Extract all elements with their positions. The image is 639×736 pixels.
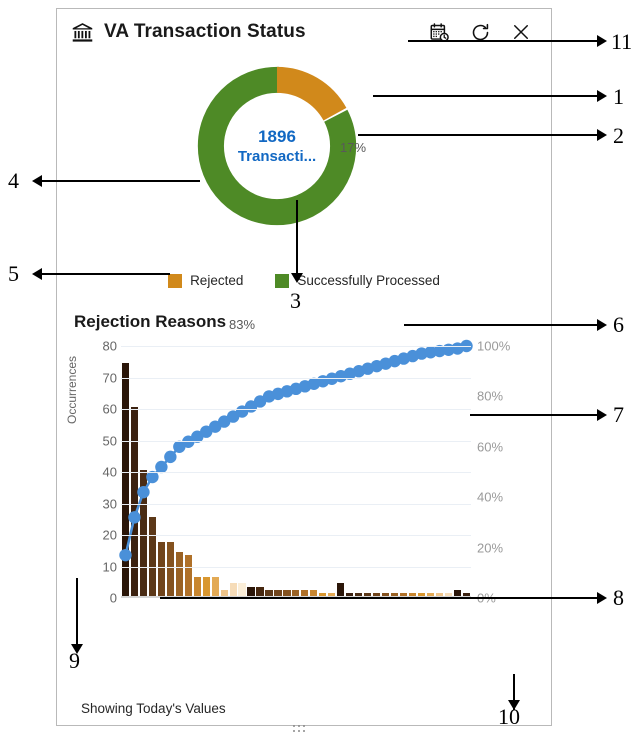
- annotation-number-8: 8: [613, 587, 624, 609]
- y-tick: 50: [103, 433, 117, 448]
- annotation-number-2: 2: [613, 125, 624, 147]
- annotation-number-11: 11: [611, 31, 632, 53]
- y-tick: 80: [103, 339, 117, 354]
- annotation-arrow-5: [32, 268, 42, 280]
- annotation-line-9: [76, 578, 78, 646]
- gridline: [121, 504, 471, 505]
- cumulative-point[interactable]: [164, 451, 176, 463]
- gridline: [121, 535, 471, 536]
- footer-note: Showing Today's Values: [81, 701, 226, 716]
- annotation-number-6: 6: [613, 314, 624, 336]
- donut-percent-bottom: 83%: [229, 317, 255, 332]
- annotation-arrow-7: [597, 409, 607, 421]
- y-tick: 40: [103, 465, 117, 480]
- cumulative-point[interactable]: [137, 486, 149, 498]
- bank-building-icon: [69, 19, 95, 45]
- donut-percent-top: 17%: [340, 140, 366, 155]
- cumulative-point[interactable]: [128, 511, 140, 523]
- y-tick: 70: [103, 370, 117, 385]
- section-title: Rejection Reasons: [74, 312, 551, 332]
- annotation-arrow-3: [291, 273, 303, 283]
- annotation-line-2: [358, 134, 598, 136]
- donut-svg: [190, 59, 364, 233]
- annotation-number-7: 7: [613, 404, 624, 426]
- plot-area: [121, 346, 471, 598]
- annotation-arrow-11: [597, 35, 607, 47]
- donut-chart: 1896 Transacti... 17% 83%: [57, 55, 551, 285]
- gridline: [121, 409, 471, 410]
- y-tick: 60: [103, 402, 117, 417]
- annotation-number-10: 10: [498, 706, 520, 728]
- annotation-number-9: 9: [69, 650, 80, 672]
- percent-tick: 100%: [477, 339, 510, 354]
- gridline: [121, 567, 471, 568]
- annotation-number-3: 3: [290, 290, 301, 312]
- y-tick: 30: [103, 496, 117, 511]
- annotation-arrow-2: [597, 129, 607, 141]
- annotation-line-6: [404, 324, 598, 326]
- annotation-number-1: 1: [613, 86, 624, 108]
- y-tick: 10: [103, 559, 117, 574]
- annotation-arrow-6: [597, 319, 607, 331]
- widget-card: VA Transaction Status: [56, 8, 552, 726]
- annotation-line-8: [160, 597, 598, 599]
- annotation-arrow-4: [32, 175, 42, 187]
- annotation-line-7: [470, 414, 598, 416]
- percent-tick: 80%: [477, 389, 503, 404]
- annotation-number-5: 5: [8, 263, 19, 285]
- gridline: [121, 346, 471, 347]
- annotation-line-11: [408, 40, 598, 42]
- gridline: [121, 441, 471, 442]
- pareto-chart: Occurrences 80706050403020100 100%80%60%…: [57, 346, 551, 614]
- drag-handle-icon[interactable]: [293, 725, 307, 733]
- annotation-arrow-1: [597, 90, 607, 102]
- annotation-line-4: [42, 180, 200, 182]
- percent-tick: 20%: [477, 540, 503, 555]
- gridline: [121, 472, 471, 473]
- card-header: VA Transaction Status: [57, 9, 551, 55]
- occurrences-axis-label: Occurrences: [65, 356, 79, 424]
- page-title: VA Transaction Status: [104, 21, 306, 43]
- percent-axis-ticks: 100%80%60%40%20%0%: [477, 346, 523, 598]
- gridline: [121, 378, 471, 379]
- y-tick: 20: [103, 528, 117, 543]
- annotation-number-4: 4: [8, 170, 19, 192]
- cumulative-point[interactable]: [119, 549, 131, 561]
- annotation-arrow-8: [597, 592, 607, 604]
- y-axis-ticks: 80706050403020100: [83, 346, 117, 598]
- percent-tick: 60%: [477, 439, 503, 454]
- annotation-line-3: [296, 200, 298, 275]
- y-tick: 0: [110, 591, 117, 606]
- annotation-line-5: [42, 273, 170, 275]
- percent-tick: 40%: [477, 490, 503, 505]
- annotation-line-1: [373, 95, 598, 97]
